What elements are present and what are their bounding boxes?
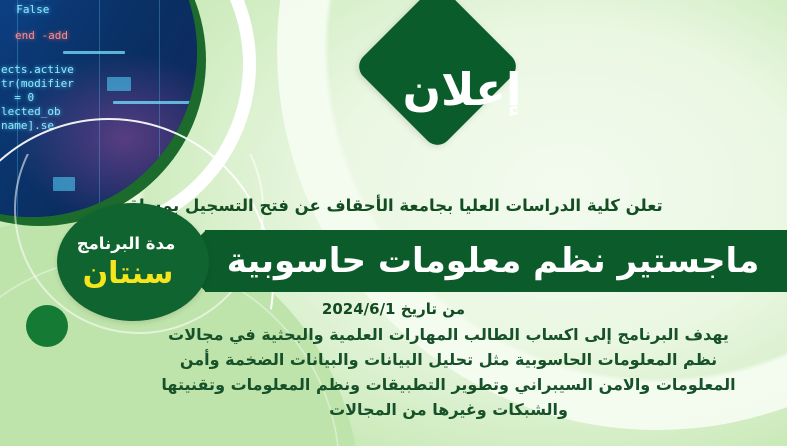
decorative-dot (26, 305, 68, 347)
program-title: ماجستير نظم معلومات حاسوبية (215, 230, 771, 292)
description-line: المعلومات والامن السيبراني وتطوير التطبي… (150, 372, 747, 397)
announcement-diamond-label: إعلان (372, 54, 552, 124)
description-line: يهدف البرنامج إلى اكساب الطالب المهارات … (150, 322, 747, 347)
duration-badge: مدة البرنامج سنتان (57, 203, 209, 321)
description-line: والشبكات وغيرها من المجالات (150, 397, 747, 422)
program-description: يهدف البرنامج إلى اكساب الطالب المهارات … (150, 322, 747, 422)
duration-badge-value: سنتان (83, 259, 184, 289)
duration-badge-caption: مدة البرنامج (77, 235, 190, 253)
announcement-poster: ROR_X": True False False IRROR_Y" False … (0, 0, 787, 446)
description-line: نظم المعلومات الحاسوبية مثل تحليل البيان… (150, 347, 747, 372)
